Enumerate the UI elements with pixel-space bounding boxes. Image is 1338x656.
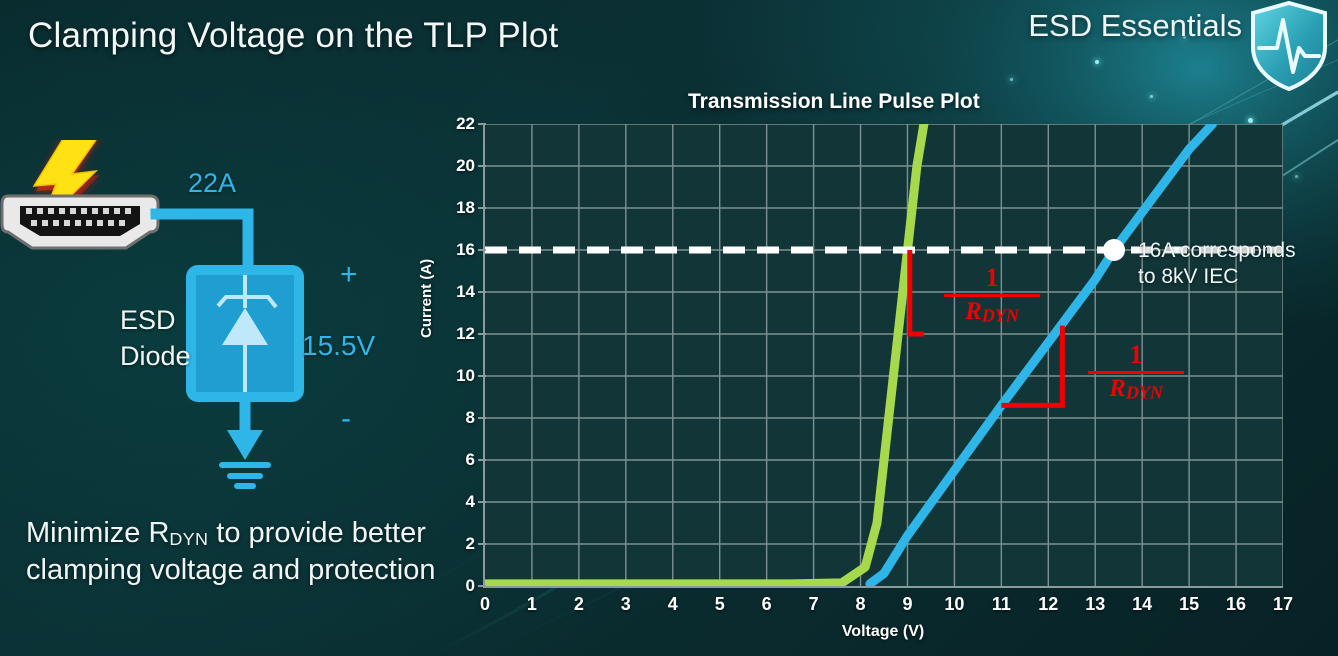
y-tick <box>478 501 486 503</box>
y-tick-label: 6 <box>466 450 475 470</box>
sparkle <box>1010 78 1013 81</box>
x-tick-label: 4 <box>668 594 678 615</box>
tagline-prefix: Minimize R <box>26 517 169 549</box>
x-tick-label: 17 <box>1273 594 1293 615</box>
slope-label-green: 1 RDYN <box>944 263 1040 327</box>
x-tick-label: 8 <box>856 594 866 615</box>
x-tick-label: 14 <box>1132 594 1152 615</box>
y-tick <box>478 375 486 377</box>
x-tick-label: 12 <box>1038 594 1058 615</box>
slope-label-blue-numerator: 1 <box>1088 340 1184 370</box>
y-tick-label: 0 <box>466 576 475 596</box>
y-tick-label: 10 <box>456 366 475 386</box>
shield-pulse-icon <box>1245 0 1333 92</box>
slope-label-blue-denominator: RDYN <box>1088 375 1184 404</box>
x-axis-title: Voltage (V) <box>842 623 924 641</box>
brand-label: ESD Essentials <box>1028 8 1242 44</box>
x-tick-label: 0 <box>480 594 490 615</box>
fraction-bar <box>1088 371 1184 374</box>
x-tick-label: 6 <box>762 594 772 615</box>
x-tick-label: 15 <box>1179 594 1199 615</box>
threshold-annotation-line2: to 8kV IEC <box>1138 264 1338 290</box>
current-arrow-icon <box>227 430 263 460</box>
y-tick-label: 14 <box>456 282 475 302</box>
y-axis-title: Current (A) <box>418 259 435 338</box>
operating-point-marker <box>1103 239 1125 261</box>
polarity-minus-label: - <box>341 402 351 436</box>
y-tick-label: 2 <box>466 534 475 554</box>
threshold-annotation: 16A corresponds to 8kV IEC <box>1138 238 1338 289</box>
signal-wire <box>156 214 248 265</box>
slide-root: Clamping Voltage on the TLP Plot ESD Ess… <box>0 0 1338 656</box>
tagline-text: Minimize RDYN to provide better clamping… <box>26 515 436 589</box>
slope-label-green-denominator: RDYN <box>944 298 1040 327</box>
slope-label-blue: 1 RDYN <box>1088 340 1184 404</box>
x-tick-label: 3 <box>621 594 631 615</box>
x-tick-label: 5 <box>715 594 725 615</box>
y-tick <box>478 249 486 251</box>
x-tick-label: 16 <box>1226 594 1246 615</box>
x-tick-label: 1 <box>527 594 537 615</box>
y-tick <box>478 417 486 419</box>
y-tick-label: 18 <box>456 198 475 218</box>
y-tick <box>478 165 486 167</box>
x-tick-label: 7 <box>809 594 819 615</box>
page-title: Clamping Voltage on the TLP Plot <box>28 16 558 56</box>
y-tick <box>478 543 486 545</box>
hdmi-connector-icon <box>2 196 158 248</box>
y-tick <box>478 585 486 587</box>
y-tick-label: 20 <box>456 156 475 176</box>
y-tick-label: 8 <box>466 408 475 428</box>
y-tick <box>478 333 486 335</box>
device-label: ESD Diode <box>120 303 191 374</box>
tlp-chart: Transmission Line Pulse Plot Current (A)… <box>420 88 1338 656</box>
clamping-voltage-label: 15.5V <box>302 330 375 362</box>
y-tick-label: 12 <box>456 324 475 344</box>
x-tick-label: 2 <box>574 594 584 615</box>
slope-label-green-numerator: 1 <box>944 263 1040 293</box>
y-tick-label: 16 <box>456 240 475 260</box>
polarity-plus-label: + <box>340 258 358 292</box>
x-tick-label: 13 <box>1085 594 1105 615</box>
chart-title: Transmission Line Pulse Plot <box>688 90 980 114</box>
ground-symbol-icon <box>222 465 268 486</box>
y-tick <box>478 459 486 461</box>
curve-green <box>485 124 924 584</box>
device-label-line1: ESD <box>120 303 191 339</box>
y-tick <box>478 207 486 209</box>
device-label-line2: Diode <box>120 339 191 375</box>
surge-current-label: 22A <box>188 168 236 199</box>
y-tick <box>478 291 486 293</box>
tagline-subscript: DYN <box>169 529 208 549</box>
x-tick-label: 10 <box>944 594 964 615</box>
y-tick <box>478 123 486 125</box>
x-tick-label: 11 <box>992 594 1011 615</box>
x-tick-label: 9 <box>902 594 912 615</box>
y-tick-label: 22 <box>456 114 475 134</box>
sparkle <box>1095 60 1099 64</box>
y-tick-label: 4 <box>466 492 475 512</box>
threshold-annotation-line1: 16A corresponds <box>1138 238 1338 264</box>
fraction-bar <box>944 294 1040 297</box>
